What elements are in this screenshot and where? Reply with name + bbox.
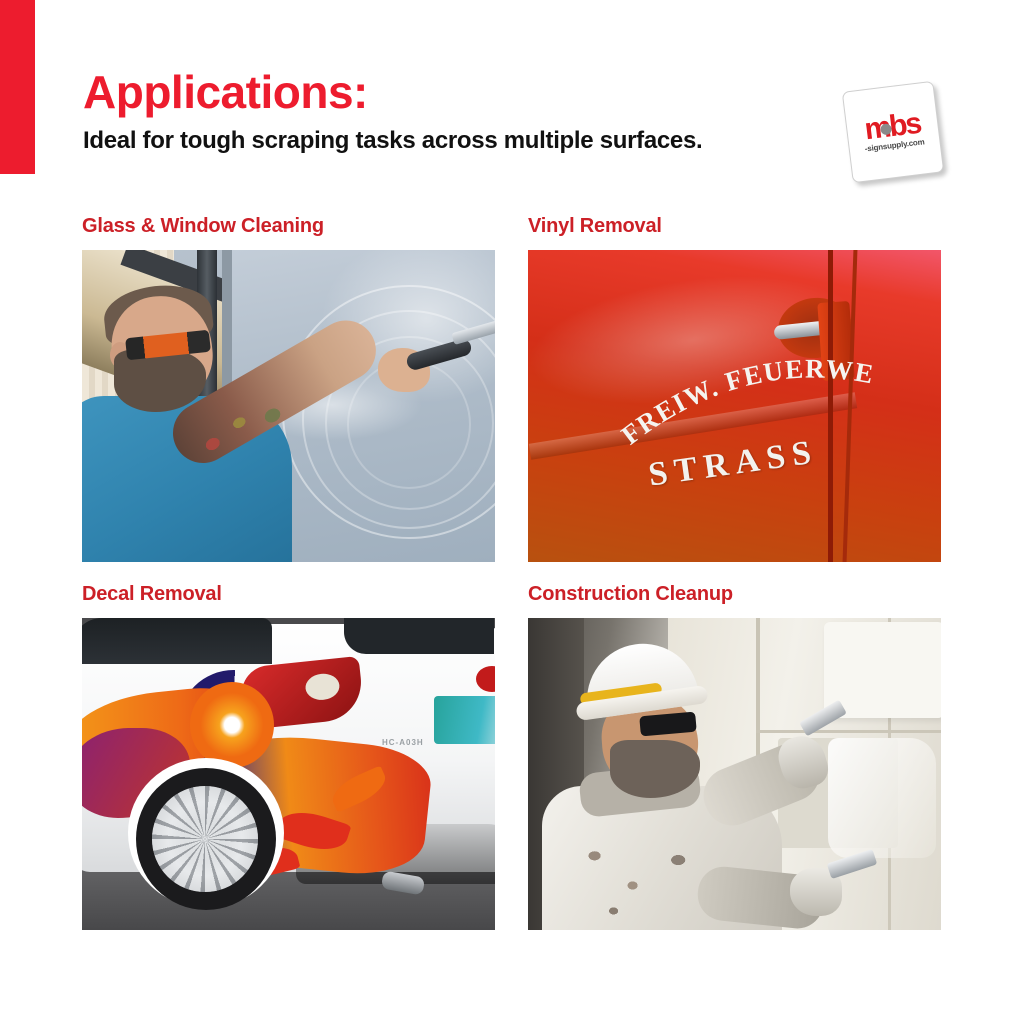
logo-card: mbs -signsupply.com (842, 81, 945, 184)
logo-wordmark-text: mbs (863, 107, 922, 147)
left-accent-bar (0, 0, 35, 174)
application-card-decal-removal: Decal Removal HC-A03H (82, 582, 495, 930)
wet-plaster-smear (828, 738, 936, 858)
car-side-window (82, 618, 272, 664)
taillight-lens (304, 672, 341, 701)
decal-flame-spiral (190, 682, 274, 768)
application-card-construction-cleanup: Construction Cleanup (528, 582, 941, 930)
application-card-glass-window-cleaning: Glass & Window Cleaning (82, 214, 495, 562)
card-title-glass-window-cleaning: Glass & Window Cleaning (82, 214, 495, 238)
grid-row-2: Decal Removal HC-A03H (82, 582, 941, 930)
photo-glass-window-cleaning (82, 250, 495, 562)
card-title-construction-cleanup: Construction Cleanup (528, 582, 941, 606)
photo-vinyl-removal: FREIW. FEUERWEHR STRASS (528, 250, 941, 562)
applications-grid: Glass & Window Cleaning (82, 214, 941, 930)
car-rim-spokes (152, 786, 258, 892)
grid-row-1: Glass & Window Cleaning (82, 214, 941, 562)
application-card-vinyl-removal: Vinyl Removal FREIW. FEUERWEHR (528, 214, 941, 562)
license-plate (434, 696, 495, 744)
header: Applications: Ideal for tough scraping t… (83, 66, 813, 156)
card-title-vinyl-removal: Vinyl Removal (528, 214, 941, 238)
page-subtitle: Ideal for tough scraping tasks across mu… (83, 126, 813, 156)
card-title-decal-removal: Decal Removal (82, 582, 495, 606)
photo-construction-cleanup (528, 618, 941, 930)
wall-horizontal-seam (756, 730, 941, 733)
brand-logo: mbs -signsupply.com (847, 86, 939, 178)
photo-decal-removal: HC-A03H (82, 618, 495, 930)
logo-wordmark: mbs (863, 111, 921, 144)
car-rear-window (344, 618, 494, 654)
car-model-badge: HC-A03H (382, 738, 424, 747)
page-title: Applications: (83, 66, 813, 118)
